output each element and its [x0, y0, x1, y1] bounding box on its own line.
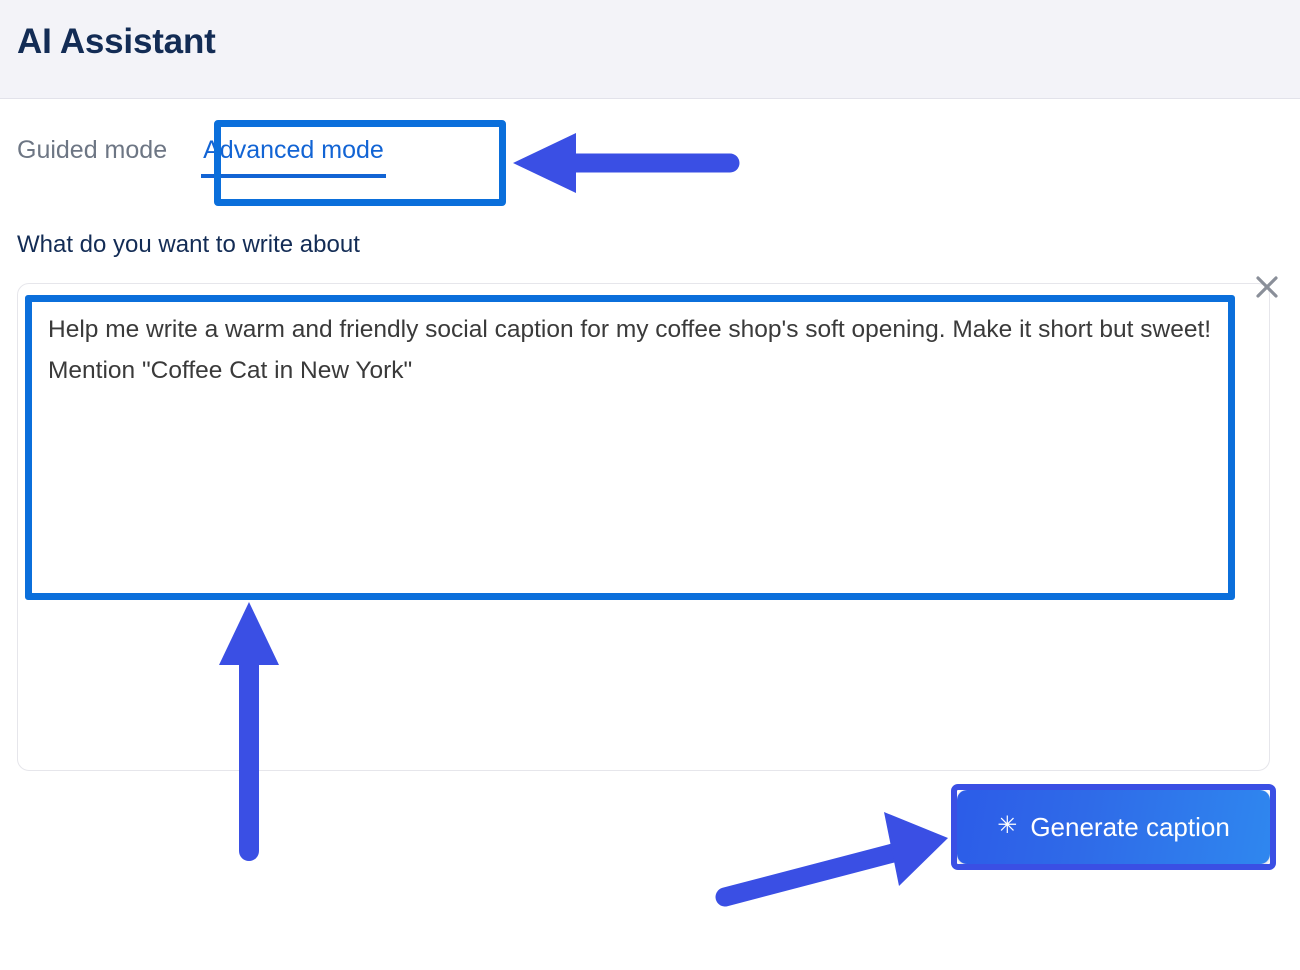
- close-icon: [1254, 274, 1280, 300]
- prompt-card: [17, 283, 1270, 771]
- tab-guided-mode[interactable]: Guided mode: [17, 136, 175, 175]
- tab-advanced-mode[interactable]: Advanced mode: [201, 136, 386, 178]
- mode-tablist: Guided mode Advanced mode: [17, 136, 386, 178]
- sparkle-icon: ✳: [997, 814, 1017, 838]
- generate-caption-label: Generate caption: [1030, 812, 1229, 843]
- annotation-arrow-to-advanced-mode: [513, 133, 730, 193]
- annotation-arrow-to-generate-button: [725, 812, 948, 897]
- prompt-textarea[interactable]: [48, 309, 1240, 609]
- generate-caption-button[interactable]: ✳ Generate caption: [957, 790, 1270, 864]
- page-title: AI Assistant: [17, 22, 216, 62]
- app-header: AI Assistant: [0, 0, 1300, 99]
- prompt-label: What do you want to write about: [17, 231, 360, 259]
- close-button[interactable]: [1252, 272, 1282, 302]
